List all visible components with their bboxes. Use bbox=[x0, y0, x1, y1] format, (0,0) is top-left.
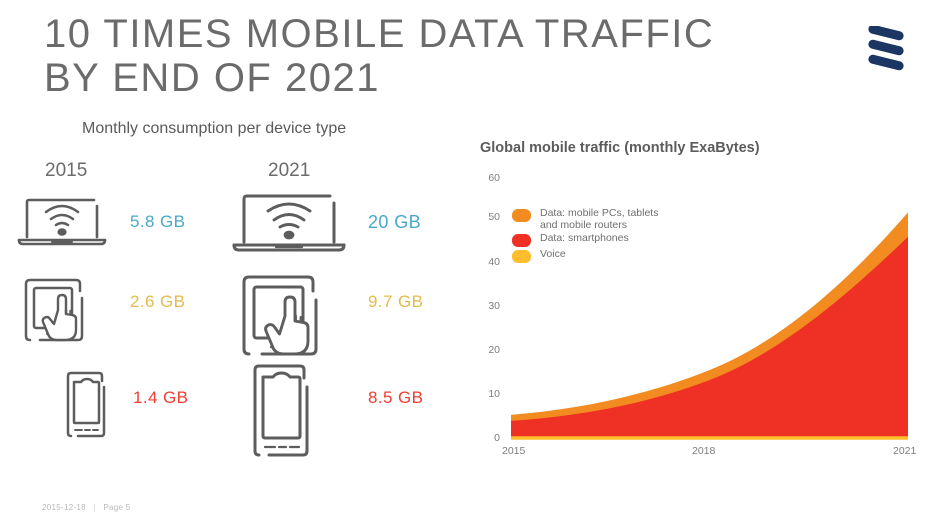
x-tick-2021: 2021 bbox=[893, 445, 916, 457]
slide: 10 TIMES MOBILE DATA TRAFFIC BY END OF 2… bbox=[0, 0, 940, 529]
footer: 2015-12-18 | Page 5 bbox=[42, 503, 131, 512]
column-header-2021: 2021 bbox=[268, 160, 310, 182]
legend-label-smartphones: Data: smartphones bbox=[540, 233, 629, 245]
tablet-hand-icon bbox=[234, 270, 344, 365]
tablet-hand-icon bbox=[18, 274, 104, 349]
legend-item-voice: Voice bbox=[512, 249, 658, 263]
column-header-2015: 2015 bbox=[45, 160, 87, 182]
legend-label-pcs: Data: mobile PCs, tablets and mobile rou… bbox=[540, 208, 658, 231]
legend-label-voice: Voice bbox=[540, 249, 566, 261]
legend-item-pcs: Data: mobile PCs, tablets and mobile rou… bbox=[512, 208, 658, 231]
legend-swatch-pcs bbox=[512, 209, 531, 222]
ericsson-logo bbox=[866, 26, 910, 78]
laptop-wifi-icon bbox=[16, 194, 108, 255]
footer-page: Page 5 bbox=[103, 503, 130, 512]
value-tablet-2015: 2.6 GB bbox=[130, 292, 185, 312]
value-laptop-2015: 5.8 GB bbox=[130, 212, 185, 232]
chart-legend: Data: mobile PCs, tablets and mobile rou… bbox=[512, 208, 658, 265]
chart-plot-area bbox=[470, 130, 920, 470]
traffic-area-chart: Global mobile traffic (monthly ExaBytes)… bbox=[470, 130, 920, 470]
legend-swatch-smartphones bbox=[512, 234, 531, 247]
smartphone-icon bbox=[62, 368, 112, 445]
footer-date: 2015-12-18 bbox=[42, 503, 86, 512]
x-tick-2015: 2015 bbox=[502, 445, 525, 457]
page-title: 10 TIMES MOBILE DATA TRAFFIC BY END OF 2… bbox=[44, 12, 804, 100]
laptop-wifi-icon bbox=[230, 190, 348, 261]
smartphone-icon bbox=[246, 360, 318, 465]
value-phone-2021: 8.5 GB bbox=[368, 388, 423, 408]
x-tick-2018: 2018 bbox=[692, 445, 715, 457]
value-phone-2015: 1.4 GB bbox=[133, 388, 188, 408]
legend-item-smartphones: Data: smartphones bbox=[512, 233, 658, 247]
value-laptop-2021: 20 GB bbox=[368, 212, 421, 233]
value-tablet-2021: 9.7 GB bbox=[368, 292, 423, 312]
footer-separator: | bbox=[93, 503, 95, 512]
legend-swatch-voice bbox=[512, 250, 531, 263]
left-panel-heading: Monthly consumption per device type bbox=[82, 120, 346, 138]
